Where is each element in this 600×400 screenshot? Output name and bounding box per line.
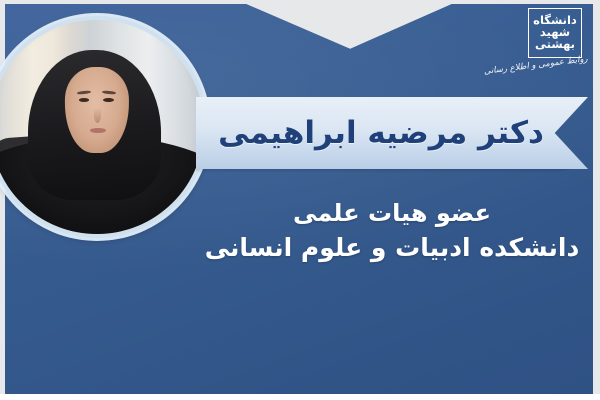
university-logo: دانشگاه شهید بهشتی روابط عمومی و اطلاع ر…: [492, 6, 588, 88]
subtitle-block: عضو هیات علمی دانشکده ادبیات و علوم انسا…: [196, 196, 588, 266]
bottom-margin: [0, 394, 600, 400]
faculty-profile-card: دانشگاه شهید بهشتی روابط عمومی و اطلاع ر…: [0, 0, 600, 400]
department-text: دانشکده ادبیات و علوم انسانی: [196, 230, 588, 266]
page-title: دکتر مرضیه ابراهیمی: [218, 115, 544, 151]
role-text: عضو هیات علمی: [196, 196, 588, 230]
name-ribbon-banner: دکتر مرضیه ابراهیمی: [196, 97, 588, 169]
portrait-photo: [0, 20, 204, 234]
photo-vignette: [0, 20, 204, 234]
avatar: [0, 16, 208, 238]
logo-text-stack: دانشگاه شهید بهشتی: [532, 12, 578, 54]
logo-line-3: بهشتی: [535, 39, 575, 51]
logo-frame-icon: دانشگاه شهید بهشتی: [528, 8, 582, 58]
